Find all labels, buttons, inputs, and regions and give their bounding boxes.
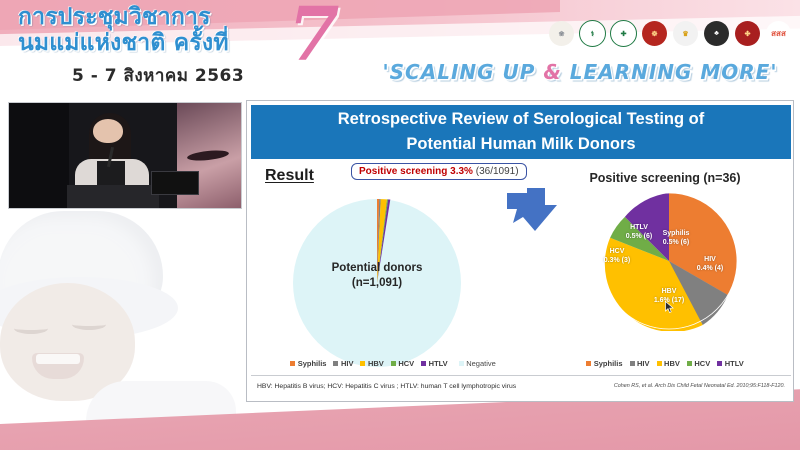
- speaker-face: [93, 119, 123, 143]
- child-eye-left: [14, 323, 48, 334]
- thai-breastfeeding-foundation-icon: ❀: [549, 21, 574, 46]
- potential-donors-label-line2: (n=1,091): [291, 276, 463, 291]
- child-eye-right: [72, 319, 106, 330]
- nursing-council-icon: ♣: [704, 21, 729, 46]
- sponsor-logo-2: ✚: [610, 20, 637, 47]
- potential-donors-label: Potential donors (n=1,091): [291, 261, 463, 291]
- legend-label-htlv: HTLV: [429, 359, 448, 368]
- legend-swatch-htlv-2: [717, 361, 722, 366]
- tagline-part-2: LEARNING MORE': [562, 60, 778, 84]
- conference-edition-number: 7: [288, 0, 340, 72]
- slide-title-line2: Potential Human Milk Donors: [251, 132, 791, 157]
- speaker-video-panel[interactable]: [8, 102, 242, 209]
- child-teeth: [36, 354, 80, 364]
- legend-swatch-hiv: [333, 361, 338, 366]
- legend-item-syphilis-2[interactable]: Syphilis: [586, 359, 622, 368]
- callout-fraction: (36/1091): [476, 166, 519, 177]
- slide-footnote-bar: HBV: Hepatitis B virus; HCV: Hepatitis C…: [251, 375, 791, 396]
- legend-item-hcv[interactable]: HCV: [391, 359, 414, 368]
- legend-swatch-syphilis-2: [586, 361, 591, 366]
- legend-label-negative: Negative: [466, 359, 496, 368]
- legend-swatch-hbv: [360, 361, 365, 366]
- video-wall: [9, 103, 69, 208]
- legend-label-hiv-2: HIV: [637, 359, 650, 368]
- legend-label-hcv-2: HCV: [694, 359, 710, 368]
- sponsor-logo-row: ❀ ⚕ ✚ ☸ ♛ ♣ ✤ สสส: [548, 20, 792, 47]
- legend-positive-screening: Syphilis HIV HBV HCV HTLV: [547, 359, 783, 368]
- legend-item-hcv-2[interactable]: HCV: [687, 359, 710, 368]
- legend-swatch-hcv: [391, 361, 396, 366]
- legend-swatch-hcv-2: [687, 361, 692, 366]
- conference-thai-title: การประชุมวิชาการ นมแม่แห่งชาติ ครั้งที่: [18, 4, 318, 56]
- poster-eye: [187, 149, 230, 162]
- tagline-part-1: 'SCALING UP: [383, 60, 544, 84]
- legend-swatch-syphilis: [290, 361, 295, 366]
- podium: [67, 185, 159, 209]
- conference-thai-title-line1: การประชุมวิชาการ: [18, 4, 211, 30]
- result-heading: Result: [265, 167, 314, 185]
- legend-label-syphilis: Syphilis: [298, 359, 327, 368]
- background-child-photo: [0, 205, 244, 420]
- legend-swatch-htlv: [421, 361, 426, 366]
- transition-arrow-icon: [505, 187, 559, 235]
- legend-item-syphilis[interactable]: Syphilis: [290, 359, 326, 368]
- sponsor-logo-5: ♣: [703, 21, 730, 46]
- legend-swatch-hbv-2: [657, 361, 662, 366]
- legend-potential-donors: Syphilis HIV HBV HCV HTLV Negative: [283, 359, 503, 368]
- ministry-of-public-health-icon: ⚕: [579, 20, 606, 47]
- potential-donors-label-line1: Potential donors: [291, 261, 463, 276]
- legend-item-hiv[interactable]: HIV: [333, 359, 353, 368]
- legend-swatch-negative: [459, 361, 464, 366]
- legend-swatch-hiv-2: [630, 361, 635, 366]
- conference-date: 5 - 7 สิงหาคม 2563: [72, 62, 244, 89]
- legend-item-hiv-2[interactable]: HIV: [630, 359, 650, 368]
- positive-screening-title: Positive screening (n=36): [543, 171, 787, 185]
- legend-item-hbv[interactable]: HBV: [360, 359, 383, 368]
- royal-emblem-icon: ♛: [673, 21, 698, 46]
- sponsor-logo-4: ♛: [672, 21, 699, 46]
- legend-label-syphilis-2: Syphilis: [594, 359, 623, 368]
- tagline-ampersand: &: [543, 60, 561, 84]
- conference-header: การประชุมวิชาการ นมแม่แห่งชาติ ครั้งที่ …: [0, 0, 800, 96]
- legend-label-hcv: HCV: [398, 359, 414, 368]
- slide-title-line1: Retrospective Review of Serological Test…: [251, 107, 791, 132]
- sponsor-logo-0: ❀: [548, 21, 575, 46]
- legend-label-hbv-2: HBV: [664, 359, 680, 368]
- presentation-slide: Retrospective Review of Serological Test…: [246, 100, 794, 402]
- sponsor-logo-3: ☸: [641, 21, 668, 46]
- presentation-stage: การประชุมวิชาการ นมแม่แห่งชาติ ครั้งที่ …: [0, 0, 800, 450]
- medical-association-icon: ✤: [735, 21, 760, 46]
- sponsor-logo-7: สสส: [765, 21, 792, 46]
- abbreviation-footnote: HBV: Hepatitis B virus; HCV: Hepatitis C…: [257, 383, 516, 390]
- laptop: [151, 171, 199, 195]
- legend-item-negative[interactable]: Negative: [459, 359, 496, 368]
- legend-label-hiv: HIV: [341, 359, 354, 368]
- legend-item-hbv-2[interactable]: HBV: [657, 359, 680, 368]
- legend-item-htlv-2[interactable]: HTLV: [717, 359, 744, 368]
- conference-tagline: 'SCALING UP & LEARNING MORE': [368, 60, 792, 84]
- department-of-health-icon: ✚: [610, 20, 637, 47]
- mouse-cursor-icon: [665, 301, 674, 314]
- thaihealth-sss-icon: สสส: [766, 21, 791, 46]
- legend-item-htlv[interactable]: HTLV: [421, 359, 448, 368]
- slide-title: Retrospective Review of Serological Test…: [251, 105, 791, 159]
- conference-thai-title-line2: นมแม่แห่งชาติ ครั้งที่: [18, 30, 318, 56]
- legend-label-hbv: HBV: [368, 359, 384, 368]
- royal-college-pediatricians-icon: ☸: [642, 21, 667, 46]
- source-citation: Cohen RS, et al. Arch Dis Child Fetal Ne…: [614, 383, 785, 389]
- positive-screening-callout: Positive screening 3.3% (36/1091): [351, 163, 527, 180]
- legend-label-htlv-2: HTLV: [725, 359, 744, 368]
- callout-percentage: Positive screening 3.3%: [359, 166, 473, 177]
- sponsor-logo-1: ⚕: [579, 20, 606, 47]
- sponsor-logo-6: ✤: [734, 21, 761, 46]
